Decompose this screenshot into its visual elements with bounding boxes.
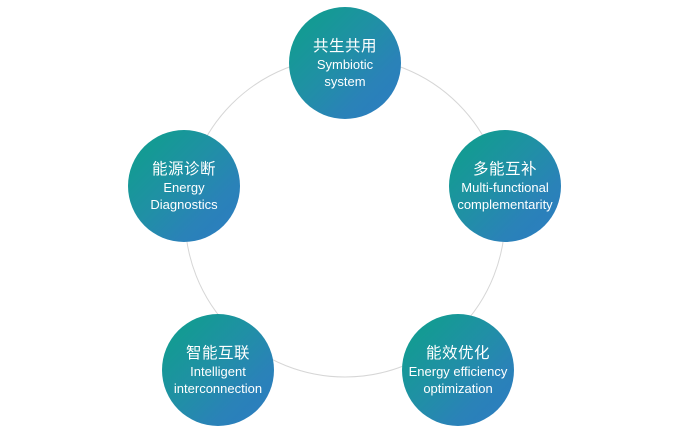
node-multi-functional-complementarity[interactable]: 多能互补 Multi-functional complementarity: [449, 130, 561, 242]
node-intelligent-interconnection[interactable]: 智能互联 Intelligent interconnection: [162, 314, 274, 426]
node-label-cn: 共生共用: [313, 37, 377, 56]
node-symbiotic-system[interactable]: 共生共用 Symbiotic system: [289, 7, 401, 119]
node-label-en-line2: Diagnostics: [150, 197, 217, 213]
node-energy-diagnostics[interactable]: 能源诊断 Energy Diagnostics: [128, 130, 240, 242]
diagram-canvas: 共生共用 Symbiotic system 多能互补 Multi-functio…: [0, 0, 681, 433]
node-label-en-line2: complementarity: [457, 197, 552, 213]
node-label-cn: 多能互补: [473, 160, 537, 179]
node-label-en-line1: Energy efficiency: [409, 364, 508, 380]
node-label-en-line1: Intelligent: [190, 364, 246, 380]
node-label-en-line1: Energy: [163, 180, 204, 196]
node-energy-efficiency-optimization[interactable]: 能效优化 Energy efficiency optimization: [402, 314, 514, 426]
node-label-en-line2: system: [324, 74, 365, 90]
node-label-en-line2: optimization: [423, 381, 492, 397]
node-label-en-line2: interconnection: [174, 381, 262, 397]
node-label-cn: 能效优化: [426, 344, 490, 363]
node-label-en-line1: Multi-functional: [461, 180, 548, 196]
node-label-cn: 能源诊断: [152, 160, 216, 179]
node-label-en-line1: Symbiotic: [317, 57, 373, 73]
node-label-cn: 智能互联: [186, 344, 250, 363]
